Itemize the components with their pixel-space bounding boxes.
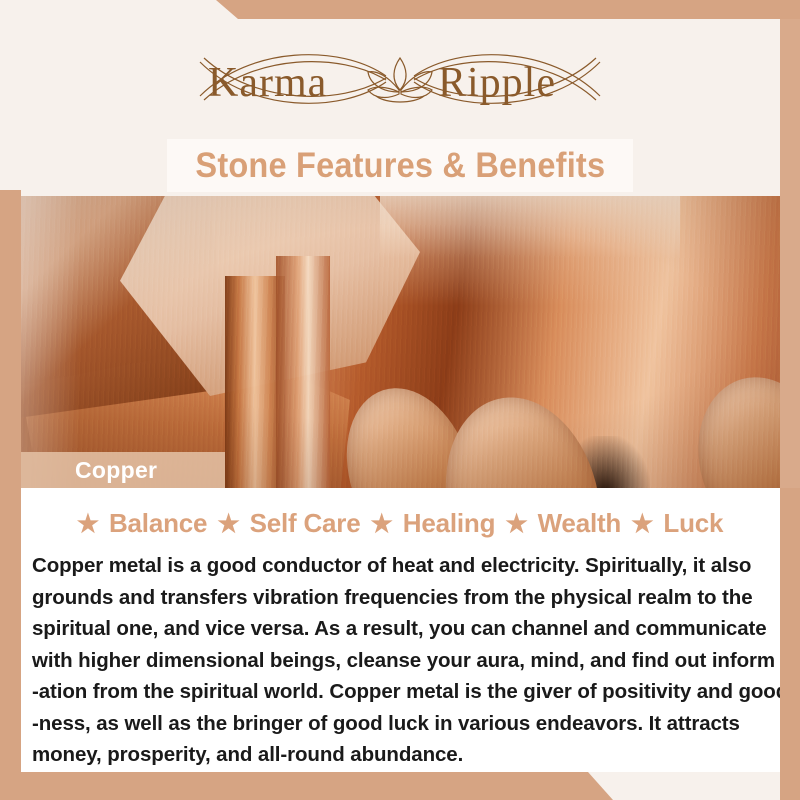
description-line: money, prosperity, and all-round abundan… <box>32 739 764 771</box>
star-icon: ★ <box>216 510 240 538</box>
feature-healing: Healing <box>401 508 498 538</box>
feature-self-care: Self Care <box>248 508 363 538</box>
decorative-top-band <box>0 0 800 19</box>
brand-logo: Karma Ripple <box>0 33 800 125</box>
photo-vignette <box>0 196 800 488</box>
star-icon: ★ <box>504 510 528 538</box>
photo-caption-label: Copper <box>75 457 157 484</box>
star-icon: ★ <box>370 510 394 538</box>
star-icon: ★ <box>630 510 654 538</box>
description-line: with higher dimensional beings, cleanse … <box>32 645 764 677</box>
feature-luck: Luck <box>661 508 725 538</box>
section-title-banner: Stone Features & Benefits <box>167 139 633 192</box>
description-line: -ness, as well as the bringer of good lu… <box>32 708 764 740</box>
decorative-left-strip <box>0 190 21 800</box>
description-line: grounds and transfers vibration frequenc… <box>32 582 764 614</box>
feature-list: ★ Balance ★ Self Care ★ Healing ★ Wealth… <box>21 488 780 539</box>
feature-wealth: Wealth <box>536 508 624 538</box>
lotus-ornament-icon <box>190 36 610 122</box>
description-text: Copper metal is a good conductor of heat… <box>21 550 780 771</box>
star-icon: ★ <box>76 510 100 538</box>
content-panel: ★ Balance ★ Self Care ★ Healing ★ Wealth… <box>21 488 780 772</box>
description-line: -ation from the spiritual world. Copper … <box>32 676 764 708</box>
photo-caption-band: Copper <box>21 452 225 488</box>
feature-balance: Balance <box>107 508 209 538</box>
page-title: Stone Features & Benefits <box>195 146 605 186</box>
product-infographic-card: Karma Ripple Stone Features & Benefits C… <box>0 0 800 800</box>
decorative-bottom-band <box>0 772 800 800</box>
decorative-right-strip-lower <box>780 488 800 800</box>
copper-photo <box>0 196 800 488</box>
description-line: Copper metal is a good conductor of heat… <box>32 550 764 582</box>
description-line: spiritual one, and vice versa. As a resu… <box>32 613 764 645</box>
